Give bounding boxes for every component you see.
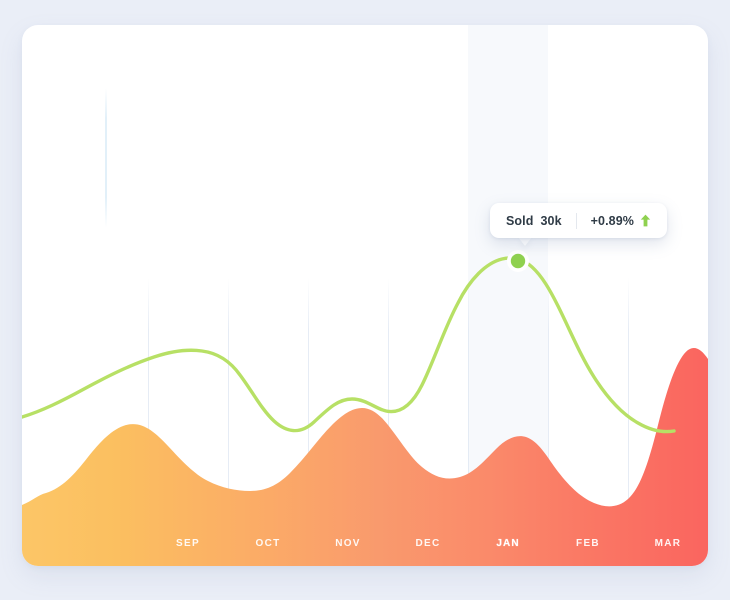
x-axis-label-dec[interactable]: DEC (415, 538, 440, 549)
chart-plot-area: Sold 30k +0.89% SEP OCT NOV DEC JAN FEB … (22, 25, 708, 566)
data-point-tooltip[interactable]: Sold 30k +0.89% (490, 203, 667, 238)
tooltip-value: 30k (540, 214, 561, 228)
x-axis-label-nov[interactable]: NOV (335, 538, 361, 549)
tooltip-pointer-tail (518, 237, 532, 246)
tooltip-change-percent: +0.89% (591, 214, 634, 228)
x-axis-label-mar[interactable]: MAR (655, 538, 682, 549)
x-axis-label-sep[interactable]: SEP (176, 538, 200, 549)
arrow-up-icon (640, 214, 651, 227)
tooltip-label: Sold (506, 214, 533, 228)
tooltip-divider (576, 213, 577, 229)
sold-marker-layer (22, 25, 708, 566)
screenshot-stage: Sold 30k +0.89% SEP OCT NOV DEC JAN FEB … (0, 0, 730, 600)
sold-marker-dot[interactable] (511, 254, 525, 268)
x-axis-label-oct[interactable]: OCT (255, 538, 280, 549)
chart-card: Sold 30k +0.89% SEP OCT NOV DEC JAN FEB … (22, 25, 708, 566)
x-axis-label-feb[interactable]: FEB (576, 538, 600, 549)
x-axis-labels: SEP OCT NOV DEC JAN FEB MAR (22, 510, 708, 566)
x-axis-label-jan[interactable]: JAN (496, 538, 519, 549)
